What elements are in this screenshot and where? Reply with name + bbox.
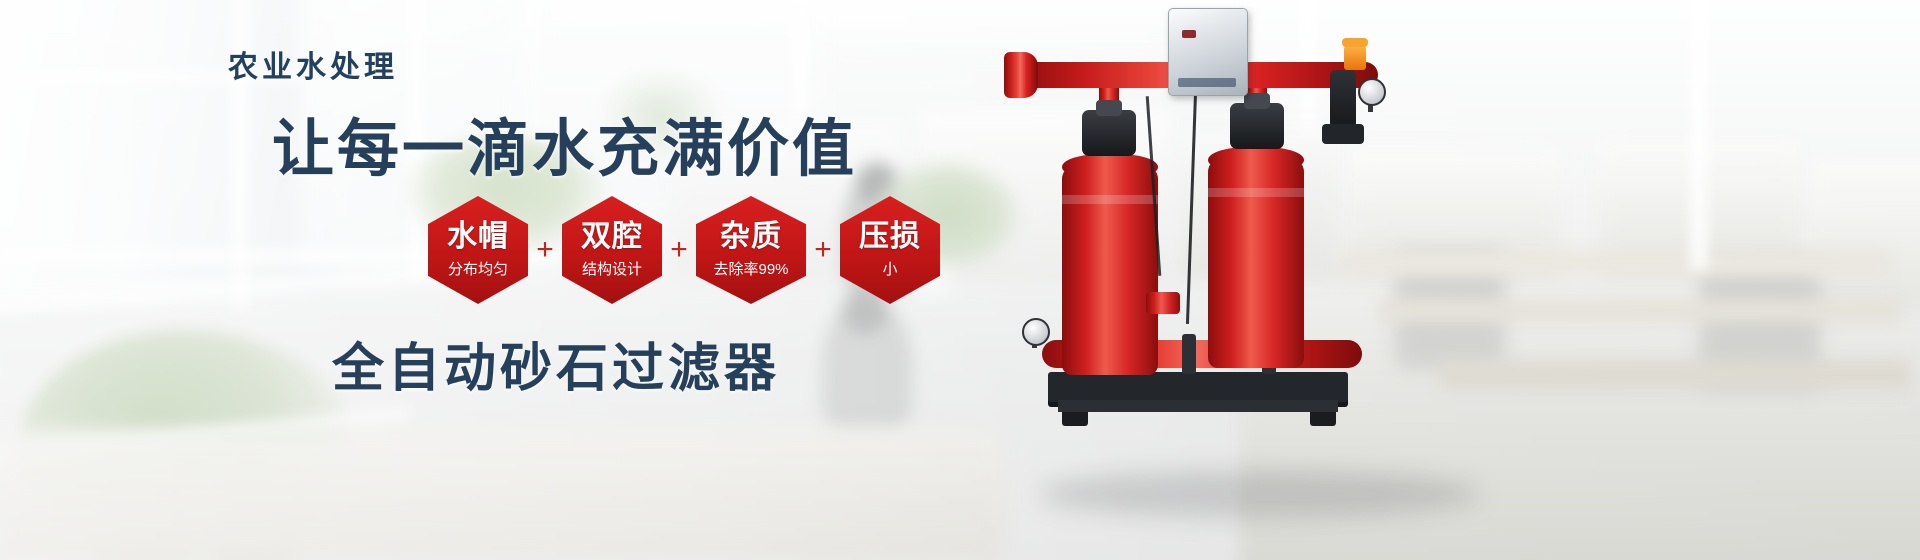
promo-banner: 农业水处理 让每一滴水充满价值 水帽 分布均匀 + 双腔 结构设计 + 杂质 去…: [0, 0, 1920, 560]
plus-separator-icon: +: [528, 235, 562, 265]
subheadline-text: 全自动砂石过滤器: [332, 326, 780, 401]
filter-tank: [1062, 165, 1158, 375]
tank-highlight: [1062, 195, 1158, 204]
feature-badge-row: 水帽 分布均匀 + 双腔 结构设计 + 杂质 去除率99% + 压损 小: [428, 196, 940, 304]
feature-badge-2[interactable]: 双腔 结构设计: [562, 196, 662, 304]
badge-title: 双腔: [581, 221, 643, 253]
badge-subtitle: 结构设计: [582, 258, 642, 279]
product-shadow: [1040, 470, 1480, 518]
pressure-gauge: [1022, 318, 1050, 346]
tank-side-nozzle: [1146, 292, 1180, 314]
relief-valve-cap: [1342, 38, 1368, 47]
headline-text: 让每一滴水充满价值: [272, 98, 857, 188]
product-photo-sand-filter: [1000, 0, 1560, 560]
control-valve: [1082, 110, 1136, 156]
badge-subtitle: 分布均匀: [448, 258, 508, 279]
controller-brand-label: [1178, 78, 1236, 87]
filter-base-skid: [1058, 400, 1338, 412]
relief-valve: [1344, 44, 1366, 70]
badge-title: 杂质: [720, 221, 782, 253]
feature-badge-1[interactable]: 水帽 分布均匀: [428, 196, 528, 304]
tank-dome: [1062, 154, 1158, 180]
filter-base-skid: [1048, 372, 1348, 402]
valve-cap: [1096, 100, 1122, 116]
badge-title: 压损: [859, 221, 921, 253]
pipe-elbow: [1322, 124, 1364, 144]
tank-dome: [1208, 147, 1304, 173]
controller-indicator: [1182, 30, 1196, 38]
skid-foot: [1310, 412, 1336, 426]
control-valve: [1230, 103, 1284, 149]
eyebrow-text: 农业水处理: [228, 42, 398, 86]
plus-separator-icon: +: [662, 235, 696, 265]
pipe-bell-end: [1004, 52, 1038, 98]
filter-tank: [1208, 158, 1304, 368]
pipe-flange: [1182, 334, 1196, 374]
feature-badge-3[interactable]: 杂质 去除率99%: [696, 196, 806, 304]
badge-title: 水帽: [447, 221, 509, 253]
pressure-gauge: [1358, 78, 1386, 106]
valve-cap: [1244, 93, 1270, 109]
skid-foot: [1062, 412, 1088, 426]
control-cable: [1186, 92, 1197, 324]
pipe-elbow: [1330, 70, 1356, 128]
plus-separator-icon: +: [806, 235, 840, 265]
feature-badge-4[interactable]: 压损 小: [840, 196, 940, 304]
badge-subtitle: 小: [882, 258, 897, 279]
badge-subtitle: 去除率99%: [713, 258, 788, 279]
tank-highlight: [1208, 188, 1304, 197]
